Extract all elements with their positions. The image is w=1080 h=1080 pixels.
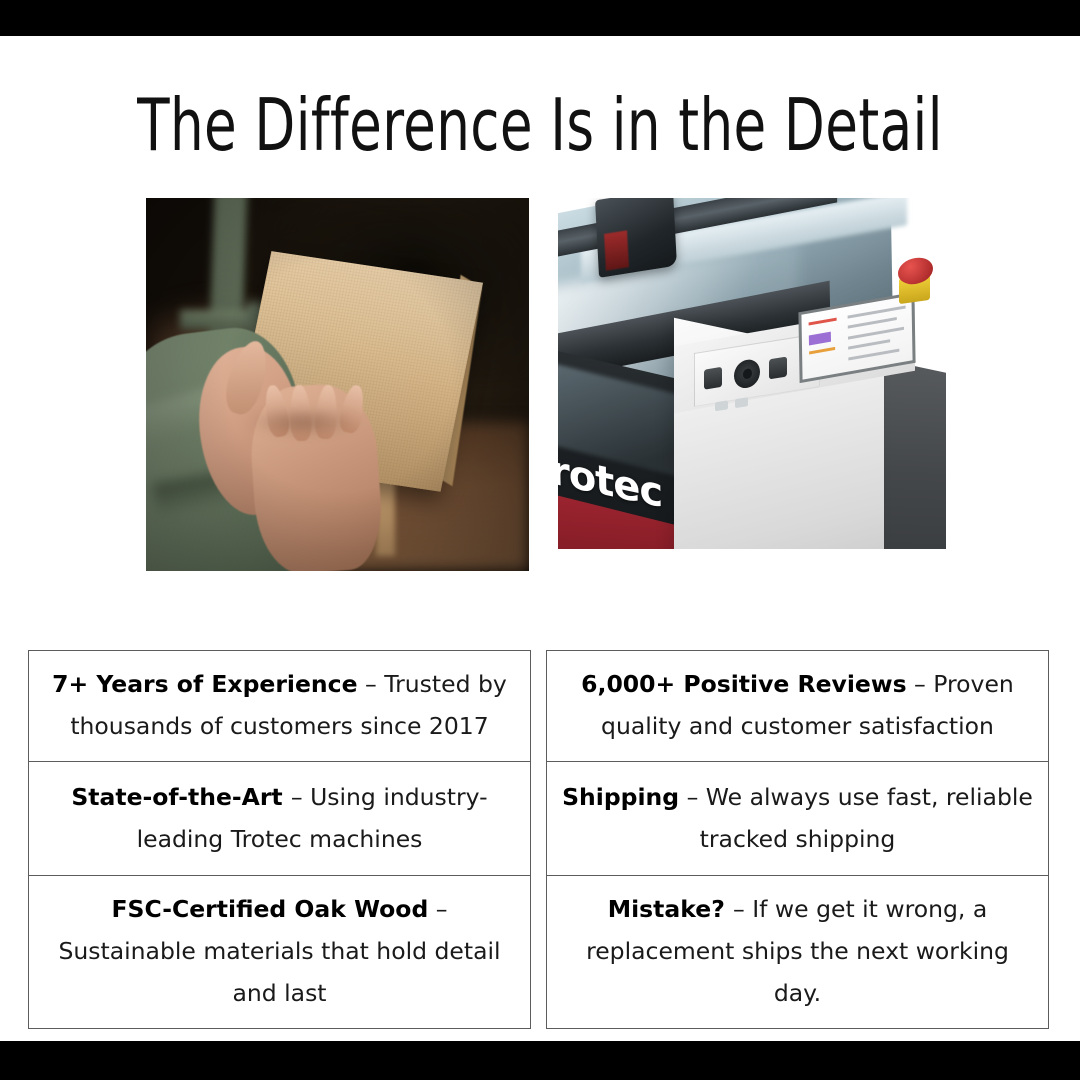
feature-dash: – — [428, 895, 447, 923]
feature-heading: Mistake? — [608, 895, 733, 923]
machine-photo-floor — [558, 549, 946, 571]
feature-row: Shipping – We always use fast, reliable … — [547, 762, 1048, 876]
photo-row: rotec — [146, 198, 946, 571]
feature-dash: – — [733, 895, 752, 923]
photo-hands-holding-oak-panel — [146, 198, 529, 571]
feature-dash: – — [907, 670, 934, 698]
photo-trotec-laser-machine: rotec — [558, 198, 946, 571]
laser-head-red-accent — [604, 230, 629, 271]
screen-text-line — [848, 349, 899, 361]
feature-dash: – — [291, 783, 310, 811]
screen-text-line — [848, 327, 903, 340]
feature-heading: 7+ Years of Experience — [52, 670, 357, 698]
page-title: The Difference Is in the Detail — [97, 84, 983, 166]
feature-table-right: 6,000+ Positive Reviews – Proven quality… — [546, 650, 1049, 1029]
screen-color-swatch-orange — [808, 347, 835, 355]
feature-heading: FSC-Certified Oak Wood — [111, 895, 428, 923]
feature-row: State-of-the-Art – Using industry-leadin… — [29, 762, 530, 876]
feature-body: We always use fast, reliable tracked shi… — [700, 783, 1033, 853]
feature-tables: 7+ Years of Experience – Trusted by thou… — [0, 650, 1080, 990]
feature-text: State-of-the-Art – Using industry-leadin… — [43, 776, 516, 860]
feature-row: FSC-Certified Oak Wood – Sustainable mat… — [29, 876, 530, 1028]
feature-table-left: 7+ Years of Experience – Trusted by thou… — [28, 650, 531, 1029]
control-button-right[interactable] — [768, 357, 786, 380]
directional-pad[interactable] — [734, 358, 760, 391]
feature-row: 7+ Years of Experience – Trusted by thou… — [29, 651, 530, 762]
slide-root: The Difference Is in the Detail — [0, 0, 1080, 1080]
slide-canvas: The Difference Is in the Detail — [0, 36, 1080, 1041]
control-button-left[interactable] — [704, 367, 722, 390]
feature-text: Mistake? – If we get it wrong, a replace… — [561, 888, 1034, 1014]
feature-heading: Shipping — [562, 783, 679, 811]
feature-dash: – — [358, 670, 385, 698]
letterbox-bar-top — [0, 0, 1080, 36]
screen-color-swatch-purple — [808, 332, 830, 346]
feature-text: FSC-Certified Oak Wood – Sustainable mat… — [43, 888, 516, 1014]
feature-text: 6,000+ Positive Reviews – Proven quality… — [561, 663, 1034, 747]
feature-heading: State-of-the-Art — [71, 783, 291, 811]
photo-vignette — [146, 198, 529, 571]
screen-text-line — [848, 340, 890, 350]
feature-row: Mistake? – If we get it wrong, a replace… — [547, 876, 1048, 1028]
feature-dash: – — [679, 783, 706, 811]
feature-heading: 6,000+ Positive Reviews — [581, 670, 906, 698]
screen-text-line — [848, 318, 897, 330]
feature-text: Shipping – We always use fast, reliable … — [561, 776, 1034, 860]
screen-color-swatch-red — [808, 318, 837, 326]
feature-text: 7+ Years of Experience – Trusted by thou… — [43, 663, 516, 747]
feature-row: 6,000+ Positive Reviews – Proven quality… — [547, 651, 1048, 762]
feature-body: Sustainable materials that hold detail a… — [58, 937, 500, 1007]
letterbox-bar-bottom — [0, 1041, 1080, 1080]
